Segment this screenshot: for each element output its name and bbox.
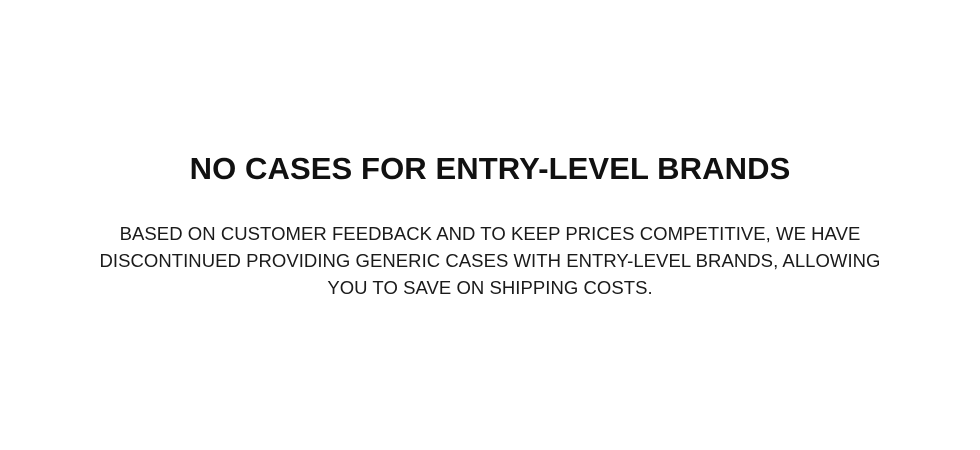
notice-heading: NO CASES FOR ENTRY-LEVEL BRANDS bbox=[80, 0, 900, 186]
notice-content-wrapper: NO CASES FOR ENTRY-LEVEL BRANDS BASED ON… bbox=[80, 0, 900, 301]
notice-banner-section: NO CASES FOR ENTRY-LEVEL BRANDS BASED ON… bbox=[0, 0, 980, 450]
notice-body-text: BASED ON CUSTOMER FEEDBACK AND TO KEEP P… bbox=[90, 186, 890, 301]
